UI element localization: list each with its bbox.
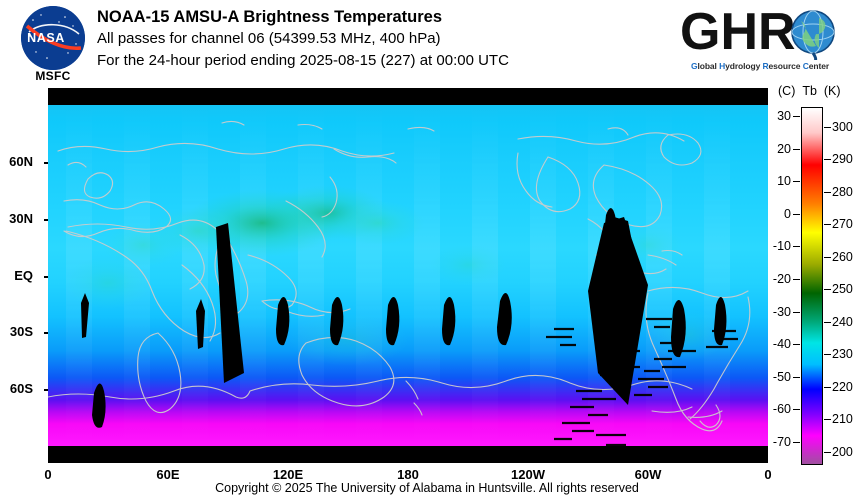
colorbar-tickmark-right bbox=[824, 354, 831, 355]
nasa-logo: NASA MSFC bbox=[14, 6, 92, 84]
colorbar-tickmark-left bbox=[793, 149, 800, 150]
colorbar-tickmark-left bbox=[793, 344, 800, 345]
colorbar-tickmark-right bbox=[824, 289, 831, 290]
title-block: NOAA-15 AMSU-A Brightness Temperatures A… bbox=[97, 7, 509, 72]
colorbar-tick-celsius: -10 bbox=[773, 239, 791, 253]
y-axis-tick-label: EQ bbox=[14, 268, 33, 283]
y-axis-tick-label: 30S bbox=[10, 324, 33, 339]
colorbar-variable: Tb bbox=[802, 84, 817, 98]
colorbar-tickmark-left bbox=[793, 279, 800, 280]
colorbar-tickmark-right bbox=[824, 224, 831, 225]
y-axis-tick-label: 30N bbox=[9, 211, 33, 226]
colorbar-tick-celsius: -40 bbox=[773, 337, 791, 351]
colorbar-tick-celsius: -30 bbox=[773, 305, 791, 319]
colorbar-gradient bbox=[801, 107, 823, 465]
colorbar-tick-kelvin: 280 bbox=[832, 185, 853, 199]
colorbar-tick-celsius: 10 bbox=[777, 174, 791, 188]
colorbar-tick-kelvin: 250 bbox=[832, 282, 853, 296]
page-subtitle-channel: All passes for channel 06 (54399.53 MHz,… bbox=[97, 28, 509, 50]
x-axis-tick-label: 120W bbox=[511, 467, 545, 482]
colorbar-tick-kelvin: 260 bbox=[832, 250, 853, 264]
colorbar-tick-celsius: 0 bbox=[784, 207, 791, 221]
ghrc-logo: GHR Global Hydrology Resource Center bbox=[680, 4, 840, 80]
colorbar-tickmark-right bbox=[824, 192, 831, 193]
colorbar-tickmark-right bbox=[824, 127, 831, 128]
y-axis: 60N30NEQ30S60S bbox=[0, 88, 44, 463]
nasa-center-label: MSFC bbox=[14, 69, 92, 83]
colorbar-tick-kelvin: 240 bbox=[832, 315, 853, 329]
colorbar-tickmark-left bbox=[793, 181, 800, 182]
x-axis-tick-label: 0 bbox=[44, 467, 51, 482]
brightness-temperature-map[interactable] bbox=[48, 105, 768, 446]
colorbar-tick-celsius: -50 bbox=[773, 370, 791, 384]
colorbar-celsius-ticks: 3020100-10-20-30-40-50-60-70 bbox=[770, 107, 800, 465]
colorbar-left-unit: (C) bbox=[778, 84, 795, 98]
colorbar-kelvin-ticks: 300290280270260250240230220210200 bbox=[824, 107, 854, 465]
x-axis-tick-label: 0 bbox=[764, 467, 771, 482]
colorbar-header: (C) Tb (K) bbox=[778, 84, 841, 98]
colorbar-tickmark-right bbox=[824, 387, 831, 388]
y-axis-tick-label: 60S bbox=[10, 381, 33, 396]
colorbar-tickmark-left bbox=[793, 312, 800, 313]
colorbar-tickmark-left bbox=[793, 442, 800, 443]
page-header: NASA MSFC NOAA-15 AMSU-A Brightness Temp… bbox=[0, 0, 854, 88]
svg-text:GHR: GHR bbox=[680, 4, 796, 60]
colorbar-tick-kelvin: 300 bbox=[832, 120, 853, 134]
copyright-footer: Copyright © 2025 The University of Alaba… bbox=[0, 481, 854, 495]
colorbar-tickmark-right bbox=[824, 452, 831, 453]
y-axis-tick-label: 60N bbox=[9, 154, 33, 169]
ghrc-wordmark: GHR bbox=[680, 4, 840, 60]
page-title: NOAA-15 AMSU-A Brightness Temperatures bbox=[97, 7, 509, 28]
colorbar-tickmark-right bbox=[824, 257, 831, 258]
colorbar-tick-celsius: -60 bbox=[773, 402, 791, 416]
colorbar-tick-kelvin: 210 bbox=[832, 412, 853, 426]
x-axis-tick-label: 120E bbox=[273, 467, 303, 482]
colorbar-tickmark-right bbox=[824, 159, 831, 160]
x-axis-tick-label: 60E bbox=[156, 467, 179, 482]
colorbar-tickmark-right bbox=[824, 322, 831, 323]
map-raster bbox=[48, 105, 768, 446]
colorbar-tick-celsius: 20 bbox=[777, 142, 791, 156]
colorbar-tick-celsius: -20 bbox=[773, 272, 791, 286]
colorbar-tick-kelvin: 220 bbox=[832, 380, 853, 394]
colorbar-tick-kelvin: 290 bbox=[832, 152, 853, 166]
colorbar-tickmark-left bbox=[793, 377, 800, 378]
colorbar-tick-kelvin: 200 bbox=[832, 445, 853, 459]
colorbar-tick-kelvin: 270 bbox=[832, 217, 853, 231]
ghrc-tagline: Global Hydrology Resource Center bbox=[680, 61, 840, 71]
nasa-wordmark: NASA bbox=[14, 31, 78, 45]
colorbar-tick-celsius: -70 bbox=[773, 435, 791, 449]
x-axis-tick-label: 60W bbox=[635, 467, 662, 482]
page-subtitle-period: For the 24-hour period ending 2025-08-15… bbox=[97, 50, 509, 72]
colorbar-tickmark-left bbox=[793, 116, 800, 117]
colorbar-tickmark-left bbox=[793, 246, 800, 247]
colorbar-right-unit: (K) bbox=[824, 84, 841, 98]
colorbar-tickmark-left bbox=[793, 409, 800, 410]
x-axis-tick-label: 180 bbox=[397, 467, 419, 482]
colorbar-tick-celsius: 30 bbox=[777, 109, 791, 123]
colorbar-tickmark-right bbox=[824, 419, 831, 420]
colorbar-tickmark-left bbox=[793, 214, 800, 215]
map-panel[interactable] bbox=[48, 88, 768, 463]
colorbar-tick-kelvin: 230 bbox=[832, 347, 853, 361]
